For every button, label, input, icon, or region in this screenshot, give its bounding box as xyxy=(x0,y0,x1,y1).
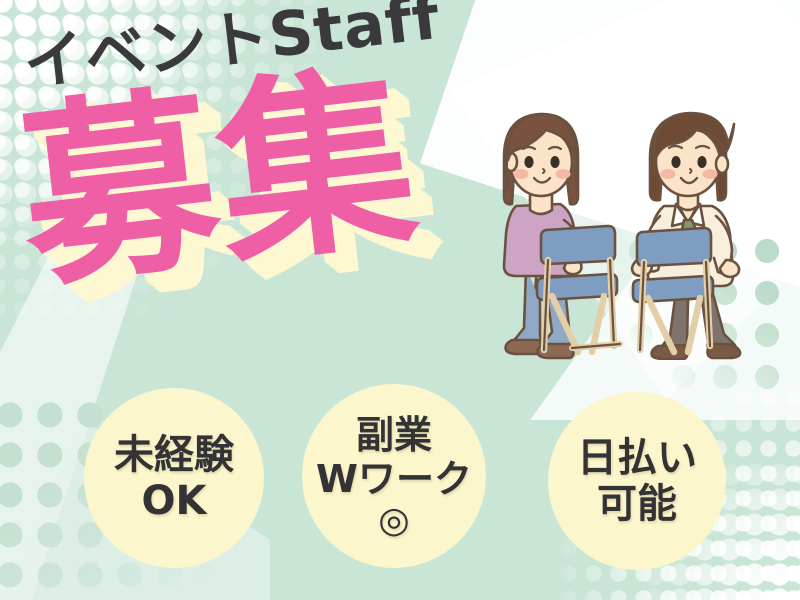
badge-2-line-1: 副業 xyxy=(356,413,432,457)
headline-main: 募集 xyxy=(11,60,427,300)
badge-2-line-2: Wワーク xyxy=(316,457,472,501)
poster-canvas: イベントStaff 募集 未経験 OK 副業 Wワーク ◎ 日払い 可能 xyxy=(0,0,800,600)
badge-daily-payment: 日払い 可能 xyxy=(548,392,726,570)
badge-2-line-3: ◎ xyxy=(378,503,409,539)
badge-3-line-1: 日払い xyxy=(577,435,697,481)
badge-3-line-2: 可能 xyxy=(597,481,677,527)
badge-side-job: 副業 Wワーク ◎ xyxy=(302,384,486,568)
badge-1-line-2: OK xyxy=(142,478,207,524)
staff-illustration xyxy=(482,100,798,360)
badge-1-line-1: 未経験 xyxy=(114,432,234,478)
headline-main-wrap: 募集 xyxy=(11,60,427,300)
badge-inexperienced-ok: 未経験 OK xyxy=(84,388,264,568)
